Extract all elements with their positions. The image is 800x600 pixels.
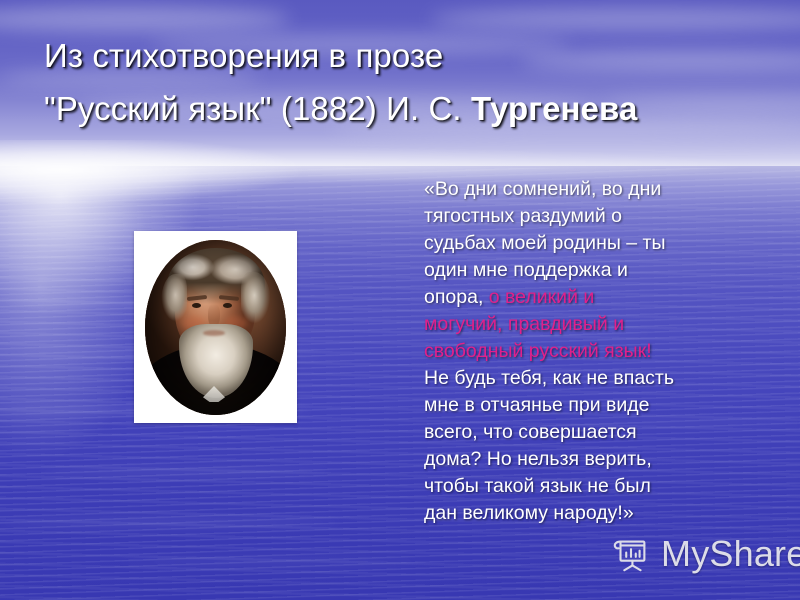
slide-title-line-1: Из стихотворения в прозе (44, 30, 764, 83)
slide-title-author: Тургенева (471, 90, 637, 127)
myshared-wordmark: MyShared (661, 536, 800, 572)
water-streak (120, 560, 420, 564)
quotation-part-2: Не будь тебя, как не впасть мне в отчаян… (424, 367, 674, 524)
slide-title-line-2: "Русский язык" (1882) И. С. Тургенева (44, 83, 764, 136)
portrait-card (134, 231, 297, 423)
cloud-wisp (430, 8, 800, 30)
cloud-wisp (0, 6, 290, 32)
flipchart-bar-chart-icon (610, 533, 652, 575)
portrait-vignette (145, 240, 286, 415)
portrait-image-turgenev (145, 240, 286, 415)
slide-title: Из стихотворения в прозе "Русский язык" … (44, 30, 764, 136)
slide-title-line-2-prefix: "Русский язык" (1882) И. С. (44, 90, 471, 127)
presentation-slide: Из стихотворения в прозе "Русский язык" … (0, 0, 800, 600)
water-streak (40, 470, 330, 474)
myshared-watermark[interactable]: MyShared (610, 533, 800, 575)
quotation-text: «Во дни сомнений, во дни тягостных разду… (424, 176, 678, 527)
horizon-glow (0, 140, 800, 210)
water-streak (0, 520, 340, 525)
